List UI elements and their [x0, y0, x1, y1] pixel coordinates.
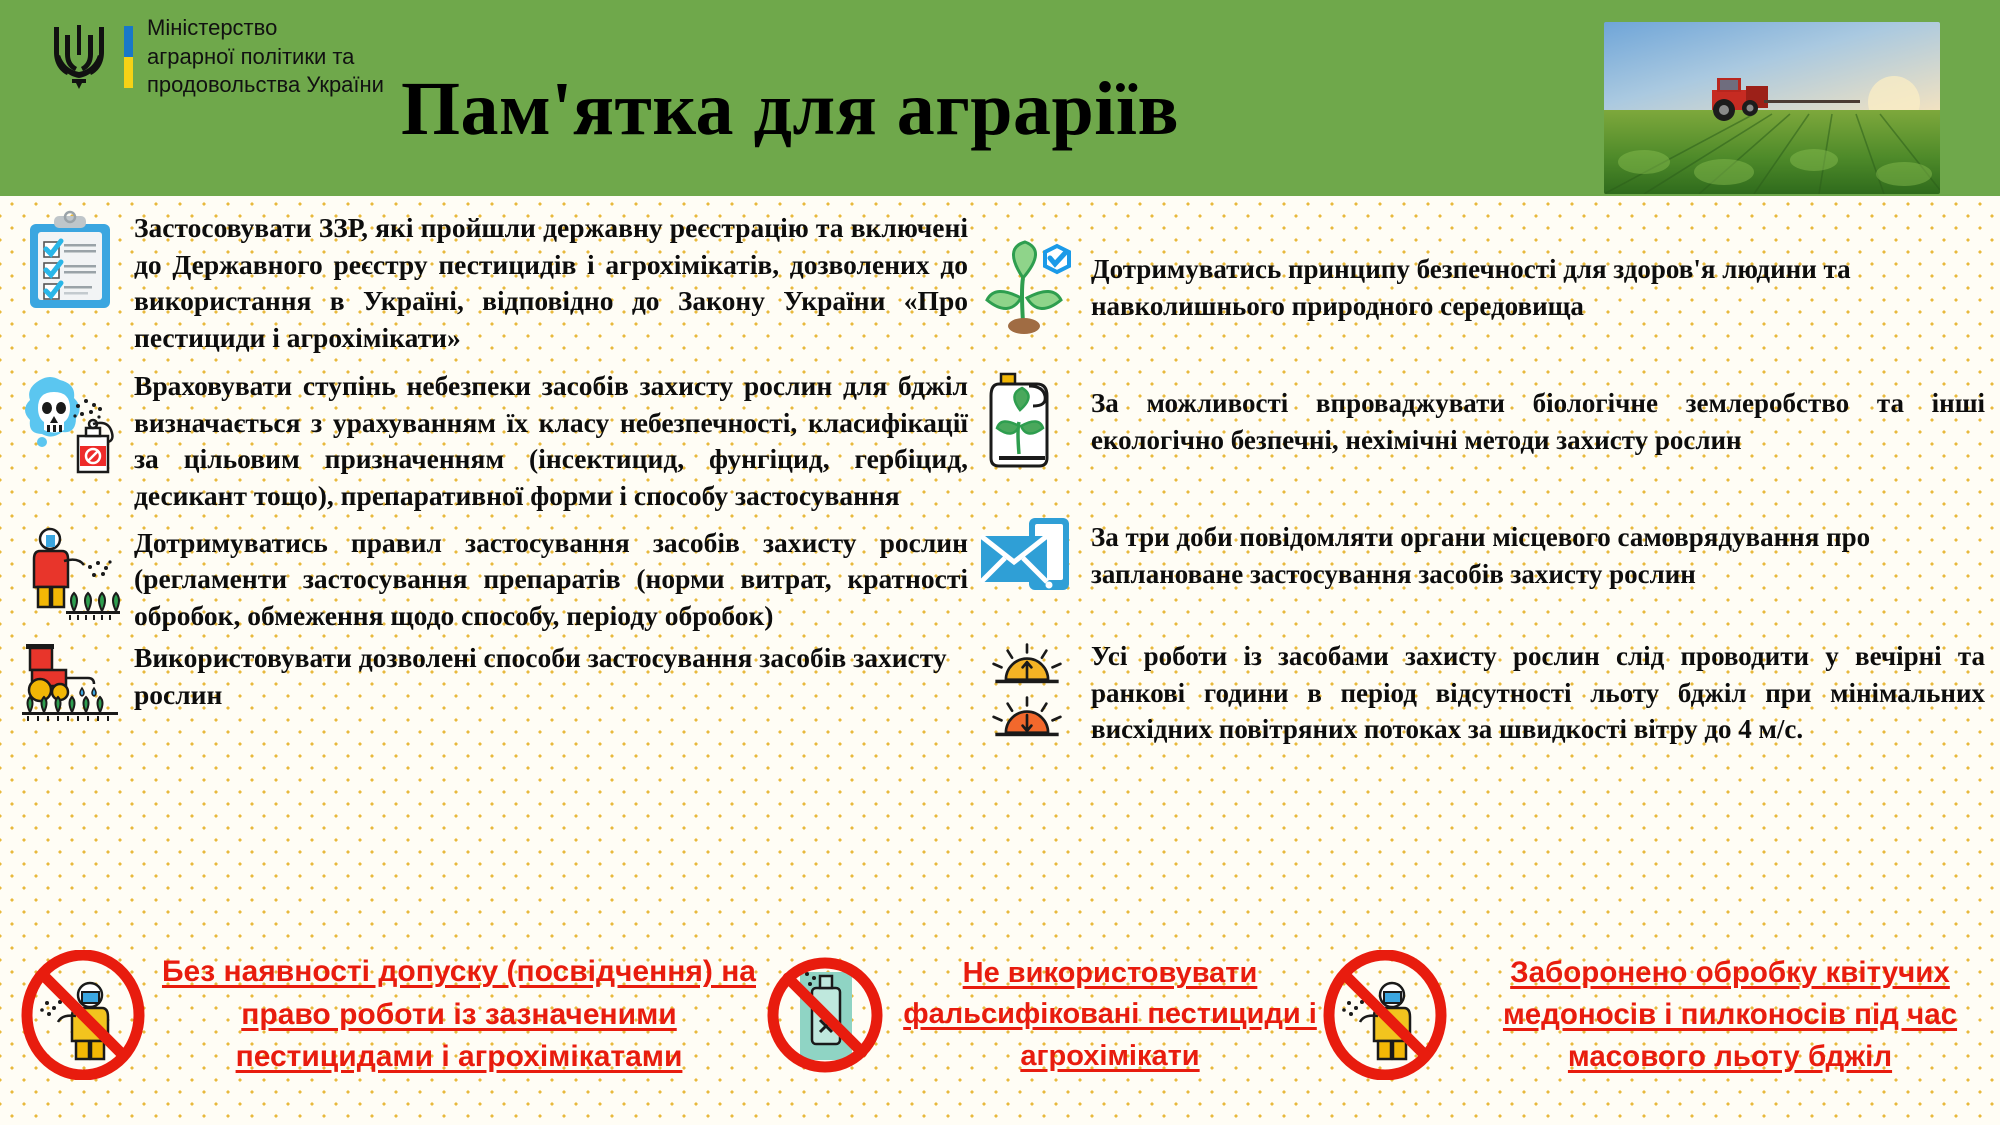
- warning-3-text: Заборонено обробку квітучих медоносів і …: [1460, 952, 2000, 1078]
- right-item-1: Дотримуватись принципу безпечності для з…: [975, 236, 1985, 340]
- right-item-2: За можливості впроваджувати біологічне з…: [975, 370, 1985, 474]
- left-item-2: Враховувати ступінь небезпеки засобів за…: [18, 368, 968, 514]
- left-item-1: Застосовувати ЗЗР, які пройшли державну …: [18, 210, 968, 356]
- left-item-1-text: Застосовувати ЗЗР, які пройшли державну …: [134, 210, 968, 356]
- clipboard-checklist-icon: [18, 210, 122, 314]
- envelope-notification-icon: [975, 504, 1079, 608]
- right-item-4-text: Усі роботи із засобами захисту рослин сл…: [1091, 638, 1985, 748]
- right-item-4: Усі роботи із засобами захисту рослин сл…: [975, 638, 1985, 748]
- right-item-1-text: Дотримуватись принципу безпечності для з…: [1091, 251, 1985, 324]
- bio-canister-leaf-icon: [975, 370, 1079, 474]
- left-item-4-text: Використовувати дозволені способи застос…: [134, 640, 968, 713]
- left-item-3: Дотримуватись правил застосування засобі…: [18, 525, 968, 635]
- warning-1-text: Без наявності допуску (посвідчення) на п…: [158, 951, 760, 1079]
- warning-2: Не використовувати фальсифіковані пестиц…: [760, 950, 1320, 1080]
- tractor-sprayer-icon: [18, 640, 122, 720]
- infographic-page: Міністерство аграрної політики та продов…: [0, 0, 2000, 1125]
- right-item-3-text: За три доби повідомляти органи місцевого…: [1091, 519, 1985, 592]
- warning-3: Заборонено обробку квітучих медоносів і …: [1320, 950, 2000, 1080]
- warning-1: Без наявності допуску (посвідчення) на п…: [0, 950, 760, 1080]
- sunrise-sunset-icon: [975, 641, 1079, 745]
- left-item-4: Використовувати дозволені способи застос…: [18, 640, 968, 720]
- sunset-icon: [981, 694, 1073, 745]
- warning-2-text: Не використовувати фальсифіковані пестиц…: [900, 953, 1320, 1077]
- ministry-name-line-1: Міністерство: [147, 14, 384, 43]
- left-item-2-text: Враховувати ступінь небезпеки засобів за…: [134, 368, 968, 514]
- warnings-row: Без наявності допуску (посвідчення) на п…: [0, 905, 2000, 1125]
- skull-hazard-sprayer-icon: [18, 368, 122, 472]
- content-area: Застосовувати ЗЗР, які пройшли державну …: [0, 196, 2000, 896]
- plant-check-badge-icon: [975, 236, 1079, 340]
- tractor-spraying-field-image: [1604, 22, 1940, 194]
- no-spraying-bees-prohibition-icon: [1320, 950, 1450, 1080]
- no-spray-can-prohibition-icon: [760, 950, 890, 1080]
- no-spraying-worker-prohibition-icon: [18, 950, 148, 1080]
- right-item-2-text: За можливості впроваджувати біологічне з…: [1091, 385, 1985, 458]
- header-banner: Міністерство аграрної політики та продов…: [0, 0, 2000, 196]
- right-column: Дотримуватись принципу безпечності для з…: [975, 196, 1985, 778]
- right-item-3: За три доби повідомляти органи місцевого…: [975, 504, 1985, 608]
- tractor-field-photo: [1604, 22, 1940, 194]
- left-column: Застосовувати ЗЗР, які пройшли державну …: [18, 196, 968, 726]
- worker-spraying-crops-icon: [18, 525, 122, 629]
- left-item-3-text: Дотримуватись правил застосування засобі…: [134, 525, 968, 635]
- sunrise-icon: [981, 641, 1073, 692]
